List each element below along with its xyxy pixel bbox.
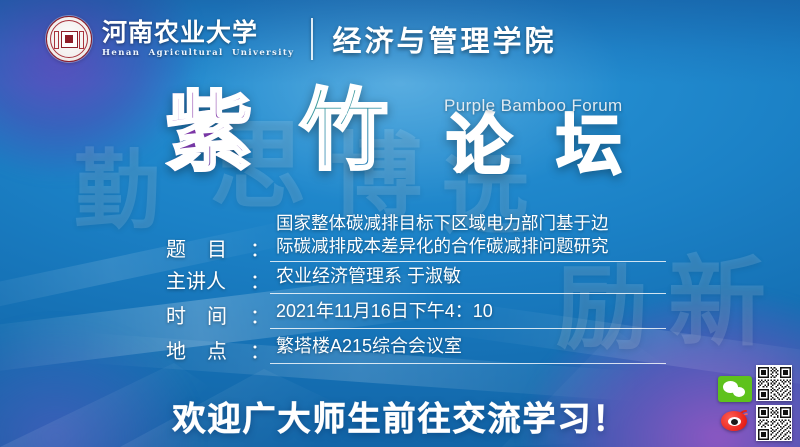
info-label-topic: 题 目 ： xyxy=(166,233,270,262)
title-char-tan: 坛 xyxy=(556,112,622,178)
seal-detail-left xyxy=(54,31,59,49)
seal-detail-right xyxy=(79,31,84,49)
college-name: 经济与管理学院 xyxy=(333,18,557,60)
info-value-location: 繁塔楼A215综合会议室 xyxy=(276,335,666,360)
label-colon: ： xyxy=(250,300,270,329)
label-char: 题 xyxy=(166,233,186,262)
seal-center xyxy=(61,31,78,48)
label-char: 间 xyxy=(207,300,227,329)
label-colon: ： xyxy=(250,265,270,294)
label-colon: ： xyxy=(250,335,270,364)
info-row-location: 地 点 ： 繁塔楼A215综合会议室 xyxy=(166,335,666,364)
social-icon-column xyxy=(718,376,752,431)
wechat-qr-code[interactable] xyxy=(756,365,792,401)
info-row-time: 时 间 ： 2021年11月16日下午4：10 xyxy=(166,300,666,329)
info-value-box-time: 2021年11月16日下午4：10 xyxy=(270,300,666,329)
social-media-block xyxy=(718,365,792,441)
info-value-box-topic: 国家整体碳减排目标下区域电力部门基于边 际碳减排成本差异化的合作碳减排问题研究 xyxy=(270,212,666,262)
label-char: 点 xyxy=(207,335,227,364)
label-colon: ： xyxy=(250,233,270,262)
info-value-topic: 国家整体碳减排目标下区域电力部门基于边 际碳减排成本差异化的合作碳减排问题研究 xyxy=(276,212,666,258)
poster-header: 河南农业大学 Henan Agricultural University 经济与… xyxy=(46,16,557,62)
info-row-speaker: 主讲人 ： 农业经济管理系 于淑敏 xyxy=(166,265,666,294)
title-char-lun: 论 xyxy=(446,112,512,178)
label-char: 地 xyxy=(166,335,186,364)
wechat-icon[interactable] xyxy=(718,376,752,402)
event-info-table: 题 目 ： 国家整体碳减排目标下区域电力部门基于边 际碳减排成本差异化的合作碳减… xyxy=(166,212,666,370)
university-name-en: Henan Agricultural University xyxy=(102,48,295,58)
info-label-speaker: 主讲人 ： xyxy=(166,265,270,294)
header-divider xyxy=(311,18,313,60)
title-char-zhu: 竹 xyxy=(300,86,388,174)
university-seal-icon xyxy=(46,16,92,62)
weibo-icon[interactable] xyxy=(721,407,749,431)
forum-poster: 勤 思 博 远 励 新 河南农业大学 Henan Agricultural Un… xyxy=(0,0,800,447)
title-subtitle-en: Purple Bamboo Forum xyxy=(444,96,623,116)
info-row-topic: 题 目 ： 国家整体碳减排目标下区域电力部门基于边 际碳减排成本差异化的合作碳减… xyxy=(166,212,666,262)
info-value-speaker: 农业经济管理系 于淑敏 xyxy=(276,265,666,290)
info-value-time: 2021年11月16日下午4：10 xyxy=(276,300,666,325)
weibo-qr-code[interactable] xyxy=(756,405,792,441)
qr-code-column xyxy=(756,365,792,441)
label-char: 主讲人 xyxy=(166,265,226,294)
forum-title: 紫 竹 论 坛 Purple Bamboo Forum xyxy=(0,84,800,194)
label-char: 目 xyxy=(207,233,227,262)
welcome-message: 欢迎广大师生前往交流学习！ xyxy=(0,392,800,440)
university-name-cn: 河南农业大学 xyxy=(102,20,295,46)
info-value-box-speaker: 农业经济管理系 于淑敏 xyxy=(270,265,666,294)
title-char-zi: 紫 xyxy=(166,90,252,176)
info-value-box-location: 繁塔楼A215综合会议室 xyxy=(270,335,666,364)
university-name-block: 河南农业大学 Henan Agricultural University xyxy=(102,20,295,57)
info-label-location: 地 点 ： xyxy=(166,335,270,364)
label-char: 时 xyxy=(166,300,186,329)
info-label-time: 时 间 ： xyxy=(166,300,270,329)
